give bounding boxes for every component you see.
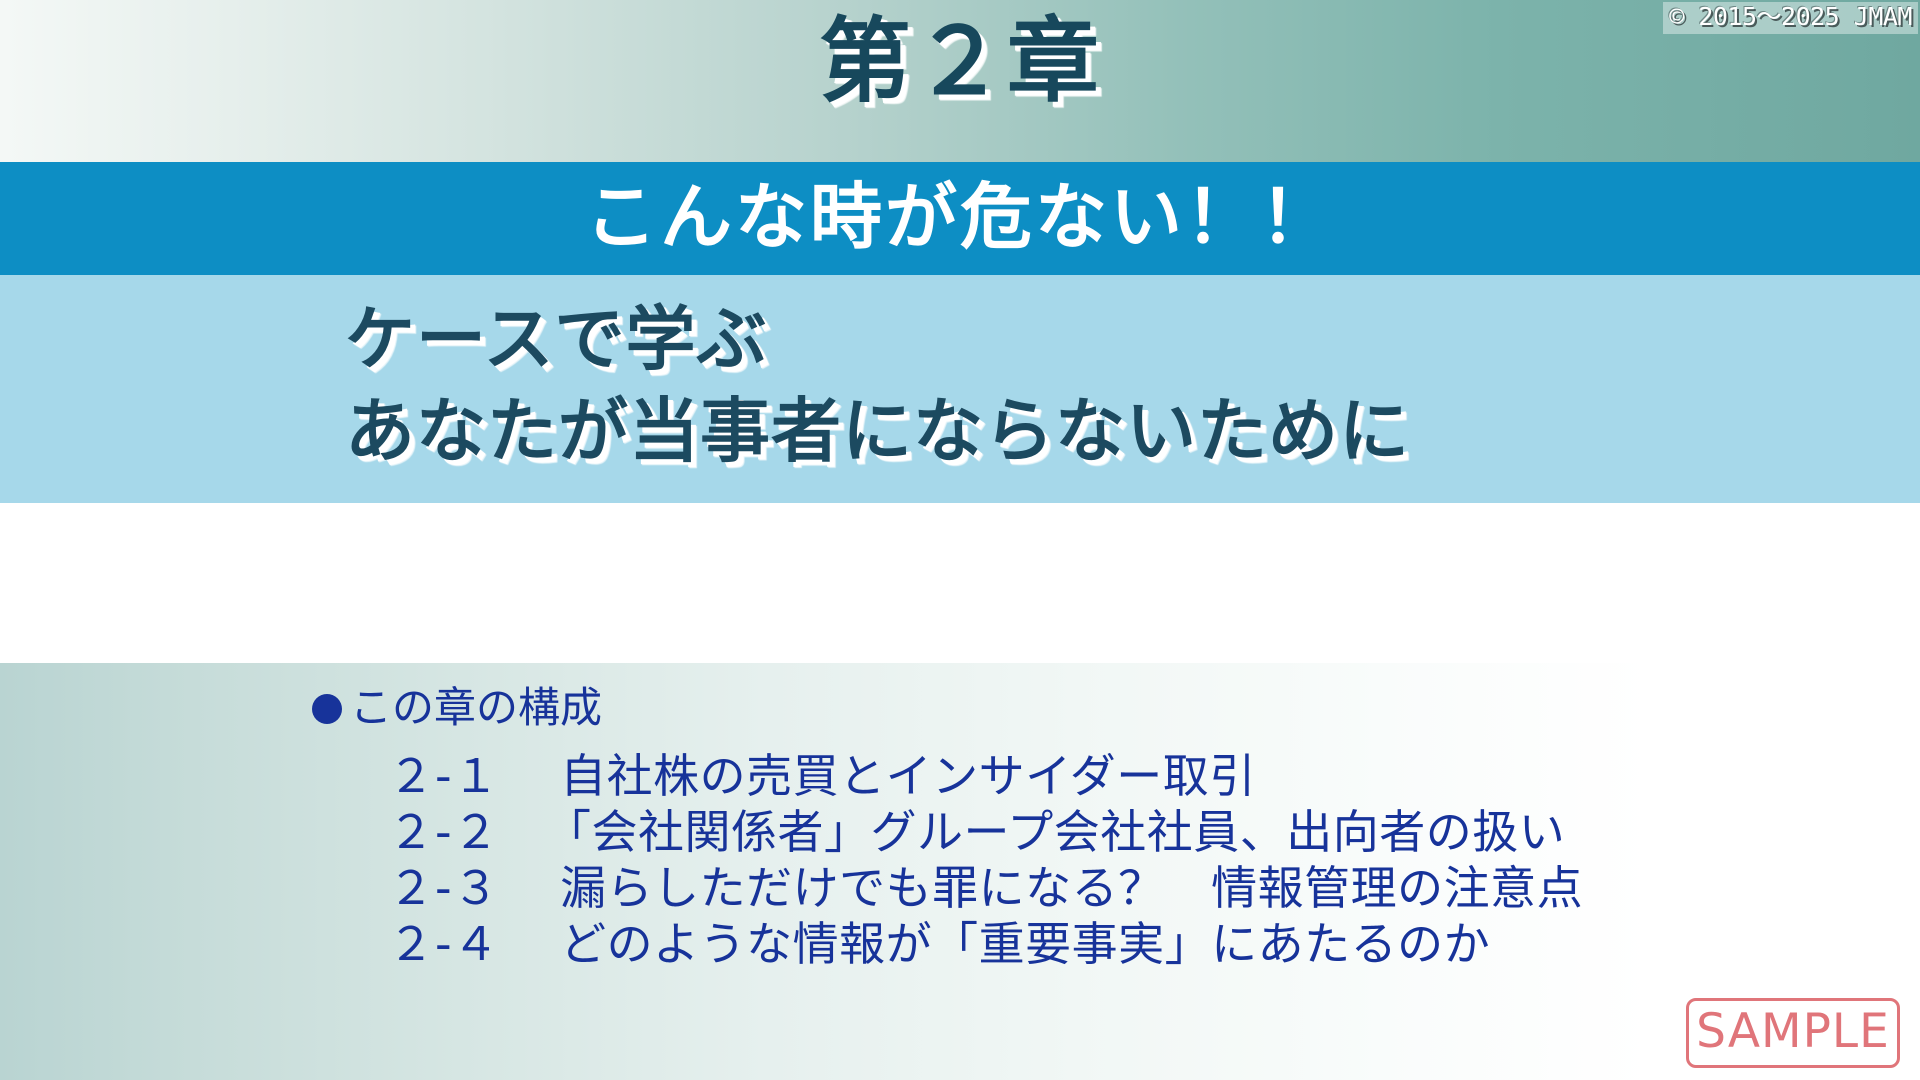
headline-banner: こんな時が危ない！！ <box>0 162 1920 275</box>
filled-circle-icon <box>312 694 342 724</box>
toc-number: ２-３ <box>388 861 500 915</box>
toc-label: どのような情報が「重要事実」にあたるのか <box>560 917 1490 971</box>
section-heading-label: この章の構成 <box>350 683 602 733</box>
slide-root: 第２章 © 2015～2025 JMAM こんな時が危ない！！ ケースで学ぶ あ… <box>0 0 1920 1080</box>
toc-number: ２-１ <box>388 749 500 803</box>
toc-label: 「会社関係者」グループ会社社員、出向者の扱い <box>545 805 1565 859</box>
subtitle-line-1: ケースで学ぶ <box>345 293 1410 385</box>
content-panel: この章の構成 ２-１ 自社株の売買とインサイダー取引 ２-２ 「会社関係者」グル… <box>0 663 1920 1080</box>
list-item[interactable]: ２-２ 「会社関係者」グループ会社社員、出向者の扱い <box>388 804 1583 860</box>
toc-label: 自社株の売買とインサイダー取引 <box>560 749 1256 803</box>
list-item[interactable]: ２-１ 自社株の売買とインサイダー取引 <box>388 748 1583 804</box>
subtitle-block: ケースで学ぶ あなたが当事者にならないために <box>345 293 1410 478</box>
list-item[interactable]: ２-３ 漏らしただけでも罪になる？ 情報管理の注意点 <box>388 860 1583 916</box>
headline-text: こんな時が危ない！！ <box>585 181 1335 253</box>
header-band: 第２章 © 2015～2025 JMAM <box>0 0 1920 162</box>
toc-number: ２-２ <box>388 805 500 859</box>
copyright-notice: © 2015～2025 JMAM <box>1663 2 1918 34</box>
sample-badge: SAMPLE <box>1686 998 1900 1068</box>
white-spacer <box>0 503 1920 663</box>
list-item[interactable]: ２-４ どのような情報が「重要事実」にあたるのか <box>388 916 1583 972</box>
sample-badge-label: SAMPLE <box>1696 1008 1890 1055</box>
subtitle-line-2: あなたが当事者にならないために <box>345 385 1410 477</box>
table-of-contents: ２-１ 自社株の売買とインサイダー取引 ２-２ 「会社関係者」グループ会社社員、… <box>388 748 1583 972</box>
chapter-title: 第２章 <box>0 14 1920 111</box>
section-heading: この章の構成 <box>312 683 602 733</box>
subtitle-band: ケースで学ぶ あなたが当事者にならないために <box>0 275 1920 503</box>
toc-label: 漏らしただけでも罪になる？ 情報管理の注意点 <box>560 861 1583 915</box>
toc-number: ２-４ <box>388 917 500 971</box>
